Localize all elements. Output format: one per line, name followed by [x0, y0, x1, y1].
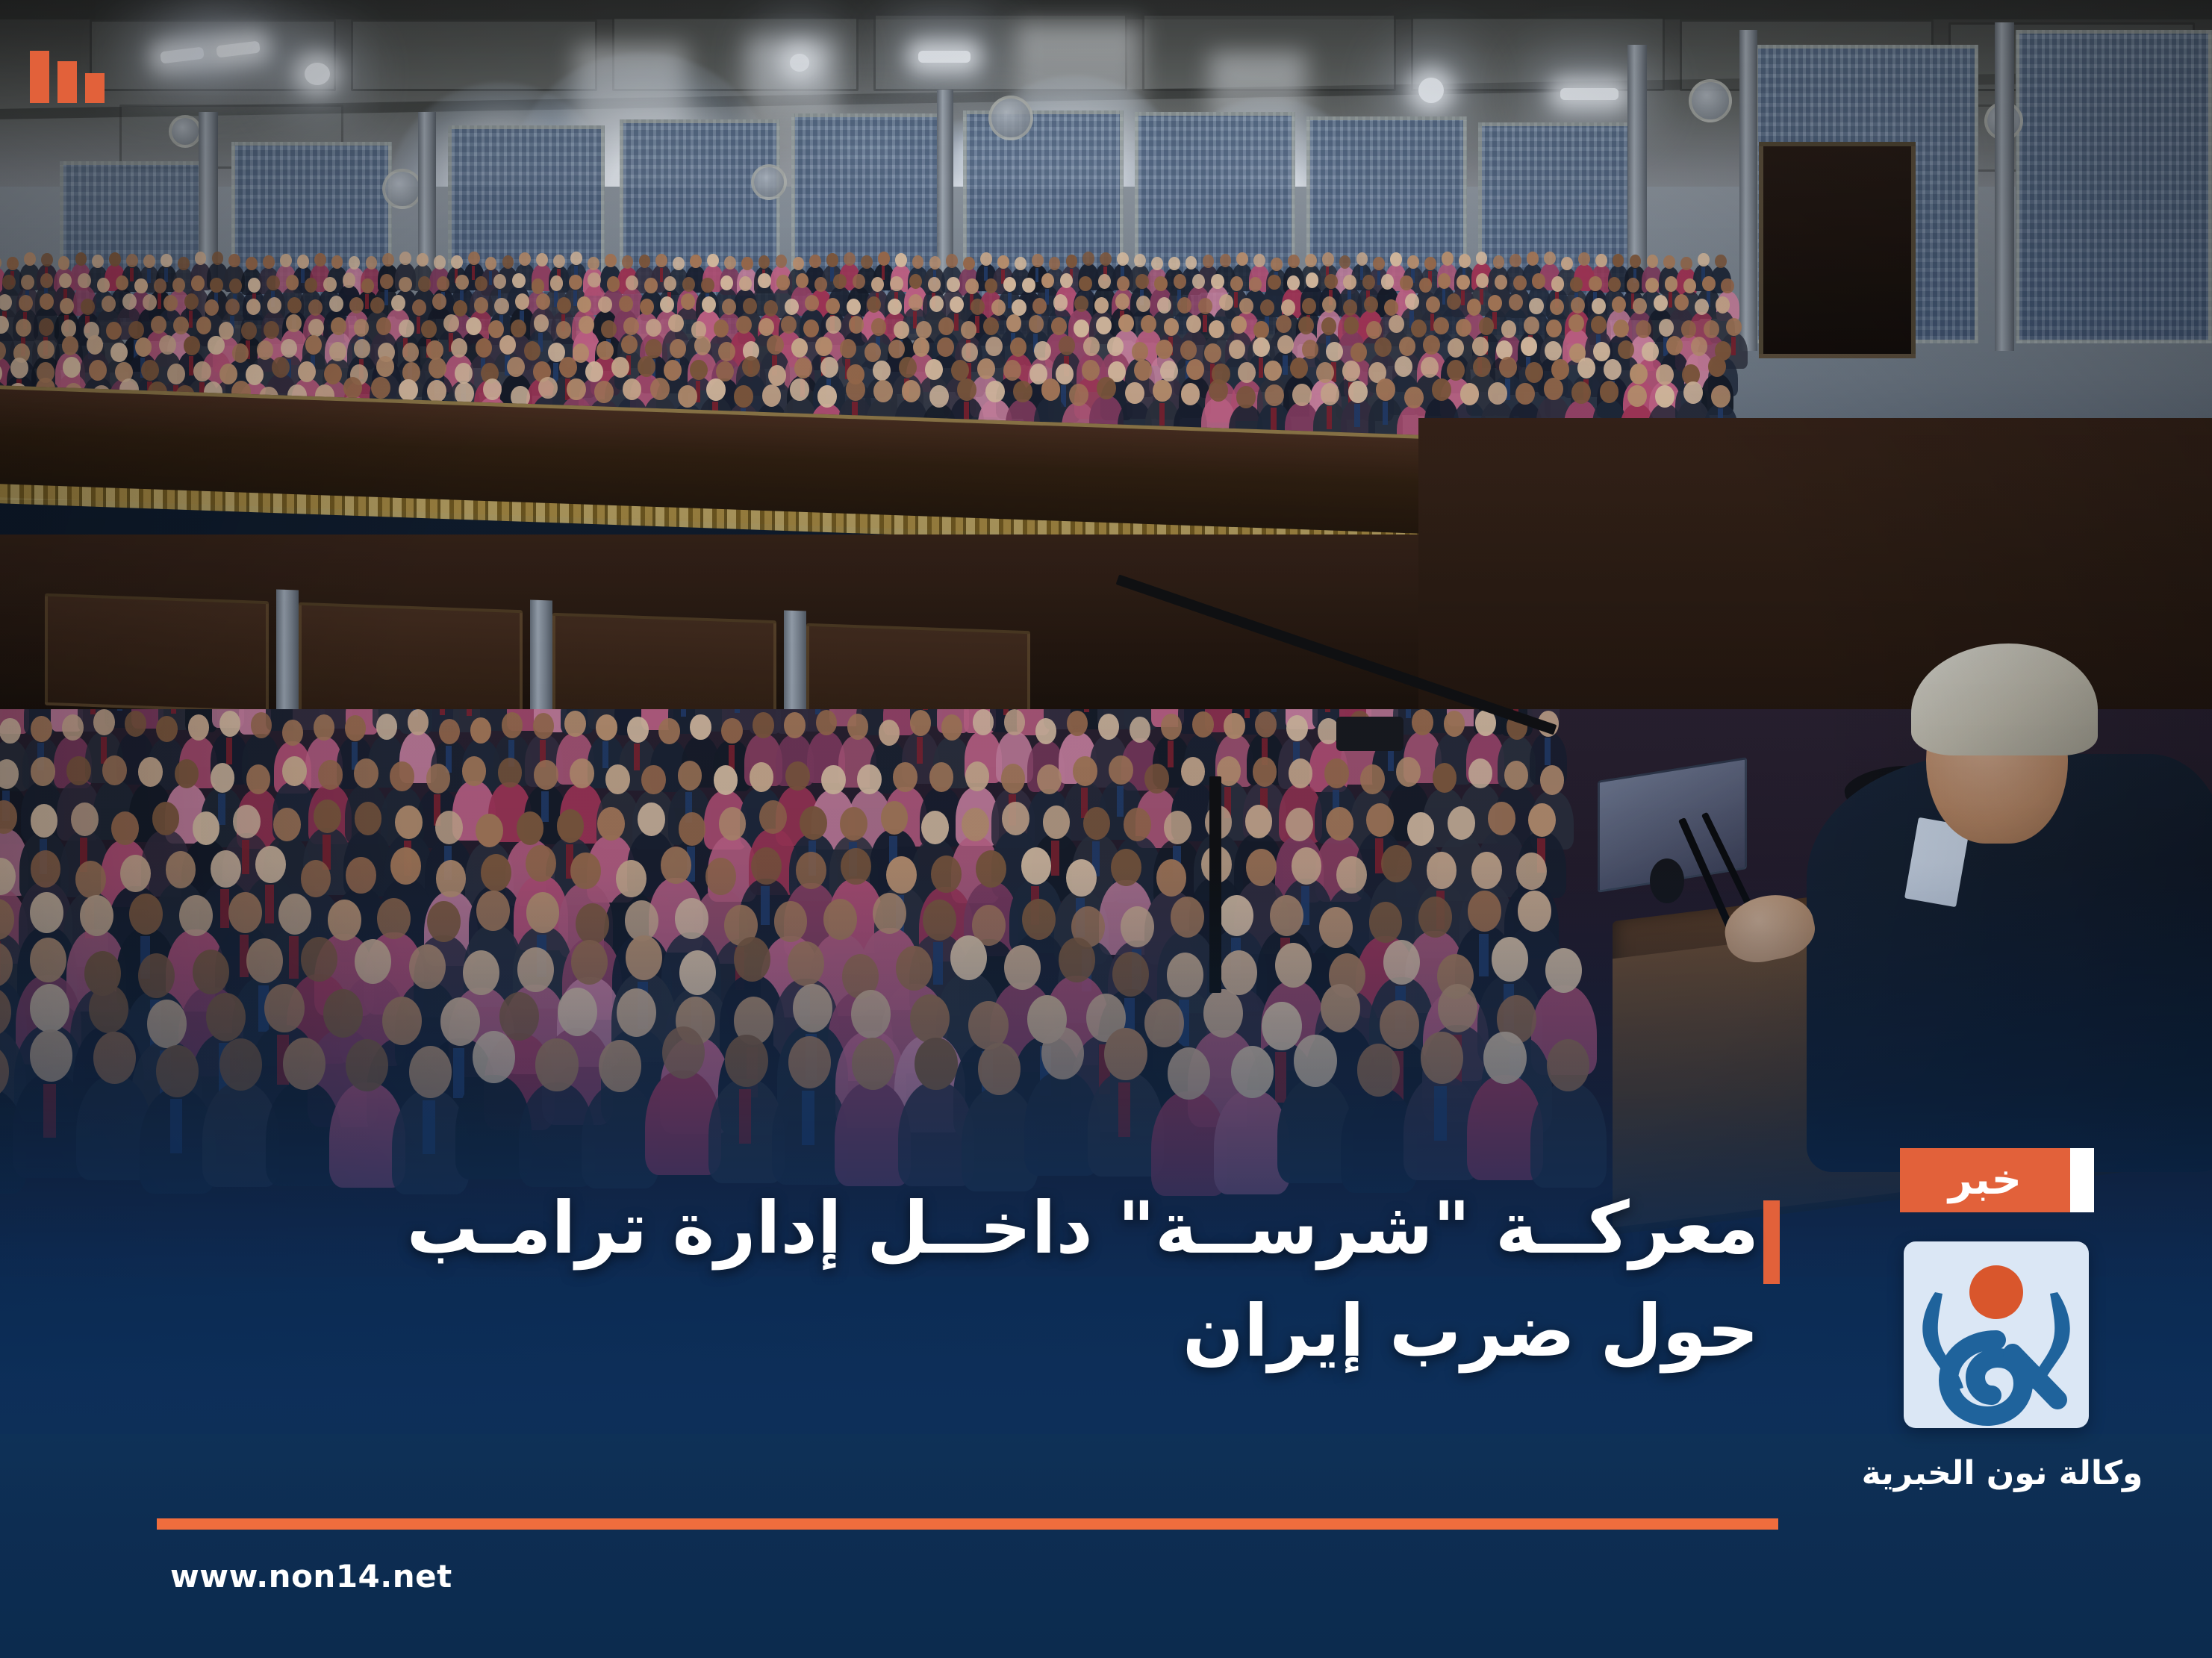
- bar-icon: [30, 51, 49, 103]
- bar-icon: [57, 61, 77, 103]
- headline: معركــة "شرســة" داخــل إدارة ترامـب حول…: [191, 1177, 1759, 1383]
- bar-icon: [85, 73, 105, 103]
- news-card: خبر وكالة نون الخبرية معركــة "شرســة" د…: [0, 0, 2212, 1658]
- non-logo-icon: [1904, 1241, 2089, 1428]
- photo-congress-address: [0, 0, 2212, 1658]
- agency-tagline: وكالة نون الخبرية: [1845, 1454, 2159, 1492]
- brand-bars-logo: [30, 46, 105, 103]
- footer-divider: [157, 1518, 1778, 1530]
- news-type-badge: خبر: [1900, 1148, 2070, 1212]
- website-url[interactable]: www.non14.net: [170, 1558, 452, 1595]
- badge-accent-tick: [2070, 1148, 2094, 1212]
- non-agency-logo: [1904, 1241, 2089, 1428]
- headline-line-1: معركــة "شرســة" داخــل إدارة ترامـب: [191, 1177, 1759, 1280]
- headline-accent-bar: [1763, 1200, 1780, 1284]
- headline-line-2: حول ضرب إيران: [191, 1280, 1759, 1383]
- news-type-badge-label: خبر: [1948, 1159, 2022, 1201]
